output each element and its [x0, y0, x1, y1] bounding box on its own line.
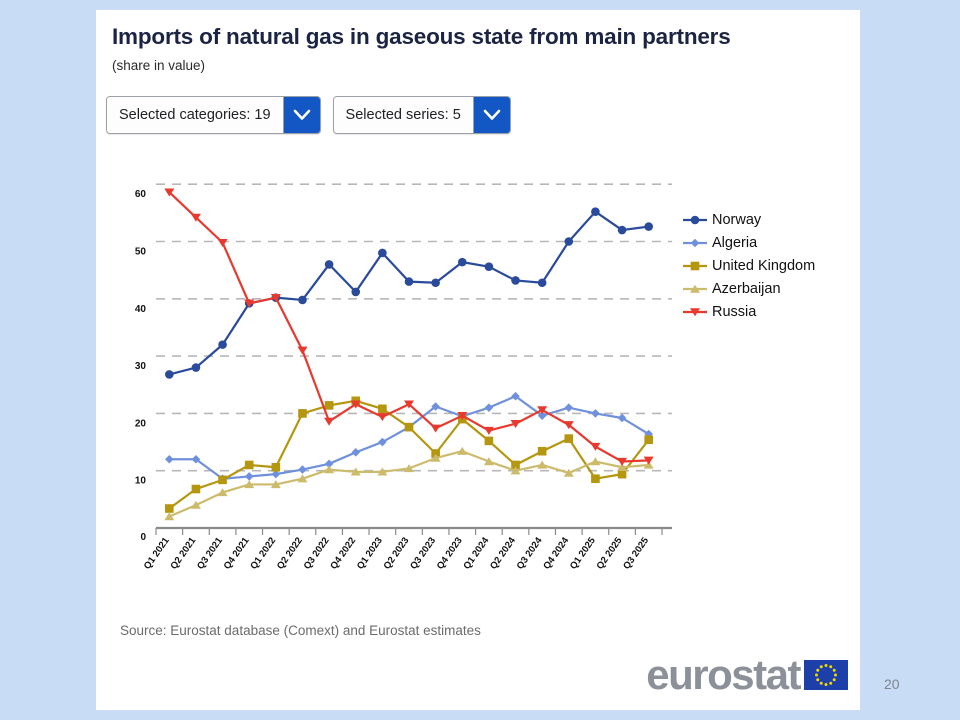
chart-controls: Selected categories: 19 Selected series:… — [106, 96, 511, 134]
eurostat-logo: eurostat — [646, 654, 848, 696]
data-point — [218, 340, 227, 349]
data-point — [218, 239, 228, 247]
data-point — [351, 448, 360, 457]
chevron-down-icon[interactable] — [283, 97, 320, 133]
data-point — [538, 278, 547, 287]
data-point — [298, 409, 307, 418]
series-line-azerbaijan — [169, 451, 648, 516]
data-point — [485, 262, 494, 271]
y-tick-label: 0 — [140, 532, 146, 543]
data-point — [431, 425, 441, 433]
series-line-norway — [169, 212, 648, 375]
data-point — [405, 277, 414, 286]
data-point — [511, 276, 520, 285]
data-point — [564, 237, 573, 246]
data-point — [351, 288, 360, 297]
legend-marker-icon — [682, 303, 708, 321]
data-point — [378, 249, 387, 258]
eu-star — [815, 674, 818, 677]
data-point — [378, 438, 387, 447]
legend-label: Azerbaijan — [712, 281, 781, 297]
page-title: Imports of natural gas in gaseous state … — [112, 24, 731, 50]
data-point — [377, 413, 387, 421]
eu-star — [825, 683, 828, 686]
source-note: Source: Eurostat database (Comext) and E… — [120, 623, 481, 638]
x-tick-label: Q3 2025 — [621, 535, 651, 572]
eu-star — [829, 682, 832, 685]
data-point — [458, 258, 467, 267]
data-point — [297, 347, 307, 355]
page-subtitle: (share in value) — [112, 58, 205, 73]
data-point — [644, 222, 653, 231]
page-number: 20 — [884, 676, 900, 692]
data-point — [564, 403, 573, 412]
data-point — [618, 226, 627, 235]
data-point — [538, 447, 547, 456]
y-tick-label: 60 — [135, 189, 147, 200]
data-point — [405, 423, 414, 432]
legend-marker-icon — [682, 257, 708, 275]
eu-flag-icon — [804, 660, 848, 690]
data-point — [644, 435, 653, 444]
selected-categories-dropdown[interactable]: Selected categories: 19 — [106, 96, 321, 134]
chart-legend: NorwayAlgeriaUnited KingdomAzerbaijanRus… — [682, 208, 857, 323]
x-tick-label: Q1 2025 — [568, 535, 598, 572]
eu-star — [816, 669, 819, 672]
x-tick-label: Q2 2023 — [382, 535, 412, 571]
x-tick-label: Q3 2024 — [515, 535, 545, 572]
data-point — [191, 501, 201, 509]
data-point — [325, 260, 334, 269]
data-point — [484, 427, 494, 435]
data-point — [192, 485, 201, 494]
data-point — [164, 512, 174, 520]
legend-marker-icon — [682, 280, 708, 298]
data-point — [165, 455, 174, 464]
y-tick-label: 20 — [135, 418, 147, 429]
eu-star — [833, 669, 836, 672]
y-tick-label: 10 — [135, 476, 147, 487]
data-point — [192, 363, 201, 372]
x-axis-tick-labels: Q1 2021Q2 2021Q3 2021Q4 2021Q1 2022Q2 20… — [142, 535, 652, 572]
data-point — [378, 405, 387, 414]
data-point — [218, 476, 227, 485]
legend-item-algeria[interactable]: Algeria — [682, 231, 857, 254]
slide-panel: Imports of natural gas in gaseous state … — [96, 10, 860, 710]
eu-star — [829, 665, 832, 668]
x-tick-label: Q1 2021 — [142, 535, 172, 572]
data-point — [165, 370, 174, 379]
x-tick-label: Q2 2021 — [168, 535, 198, 572]
x-tick-label: Q4 2023 — [435, 535, 465, 571]
data-point — [591, 474, 600, 483]
data-point — [165, 504, 174, 513]
eurostat-logo-text: eurostat — [646, 654, 800, 696]
data-point — [298, 465, 307, 474]
data-point — [431, 278, 440, 287]
x-tick-label: Q2 2024 — [488, 535, 518, 572]
x-tick-label: Q2 2022 — [275, 535, 305, 571]
legend-marker-icon — [682, 211, 708, 229]
eu-star — [820, 665, 823, 668]
legend-label: Russia — [712, 304, 756, 320]
x-tick-label: Q1 2024 — [461, 535, 491, 572]
selected-series-dropdown[interactable]: Selected series: 5 — [333, 96, 511, 134]
x-tick-label: Q3 2021 — [195, 535, 225, 572]
data-point — [485, 403, 494, 412]
eu-star — [834, 674, 837, 677]
x-axis — [156, 528, 672, 535]
x-tick-label: Q4 2021 — [222, 535, 252, 572]
data-point — [591, 409, 600, 418]
legend-item-norway[interactable]: Norway — [682, 208, 857, 231]
data-point — [272, 463, 281, 472]
x-tick-label: Q3 2023 — [408, 535, 438, 571]
data-point — [324, 418, 334, 426]
data-point — [591, 207, 600, 216]
eu-star — [833, 678, 836, 681]
selected-categories-label: Selected categories: 19 — [107, 97, 283, 133]
data-point — [618, 470, 627, 479]
data-point — [564, 434, 573, 443]
legend-marker-icon — [682, 234, 708, 252]
eu-star — [816, 678, 819, 681]
data-point — [245, 472, 254, 481]
y-tick-label: 30 — [135, 361, 147, 372]
y-tick-label: 40 — [135, 304, 147, 315]
legend-label: United Kingdom — [712, 258, 815, 274]
legend-label: Algeria — [712, 235, 757, 251]
x-tick-label: Q1 2023 — [355, 535, 385, 571]
x-tick-label: Q1 2022 — [248, 535, 278, 571]
chevron-down-icon[interactable] — [473, 97, 510, 133]
legend-item-azerbaijan[interactable]: Azerbaijan — [682, 277, 857, 300]
eu-star — [825, 664, 828, 667]
data-point — [245, 461, 254, 470]
data-point — [457, 447, 467, 455]
eu-star — [820, 682, 823, 685]
data-point — [325, 401, 334, 410]
x-tick-label: Q4 2024 — [541, 535, 571, 572]
series-line-united-kingdom — [169, 401, 648, 509]
x-tick-label: Q2 2025 — [595, 535, 625, 572]
legend-item-russia[interactable]: Russia — [682, 300, 857, 323]
data-point — [485, 437, 494, 446]
data-point — [298, 296, 307, 305]
x-tick-label: Q3 2022 — [302, 535, 332, 571]
selected-series-label: Selected series: 5 — [334, 97, 473, 133]
legend-item-united-kingdom[interactable]: United Kingdom — [682, 254, 857, 277]
legend-label: Norway — [712, 212, 761, 228]
y-axis-tick-labels: 0102030405060 — [135, 189, 147, 543]
x-tick-label: Q4 2022 — [328, 535, 358, 571]
y-tick-label: 50 — [135, 246, 147, 257]
